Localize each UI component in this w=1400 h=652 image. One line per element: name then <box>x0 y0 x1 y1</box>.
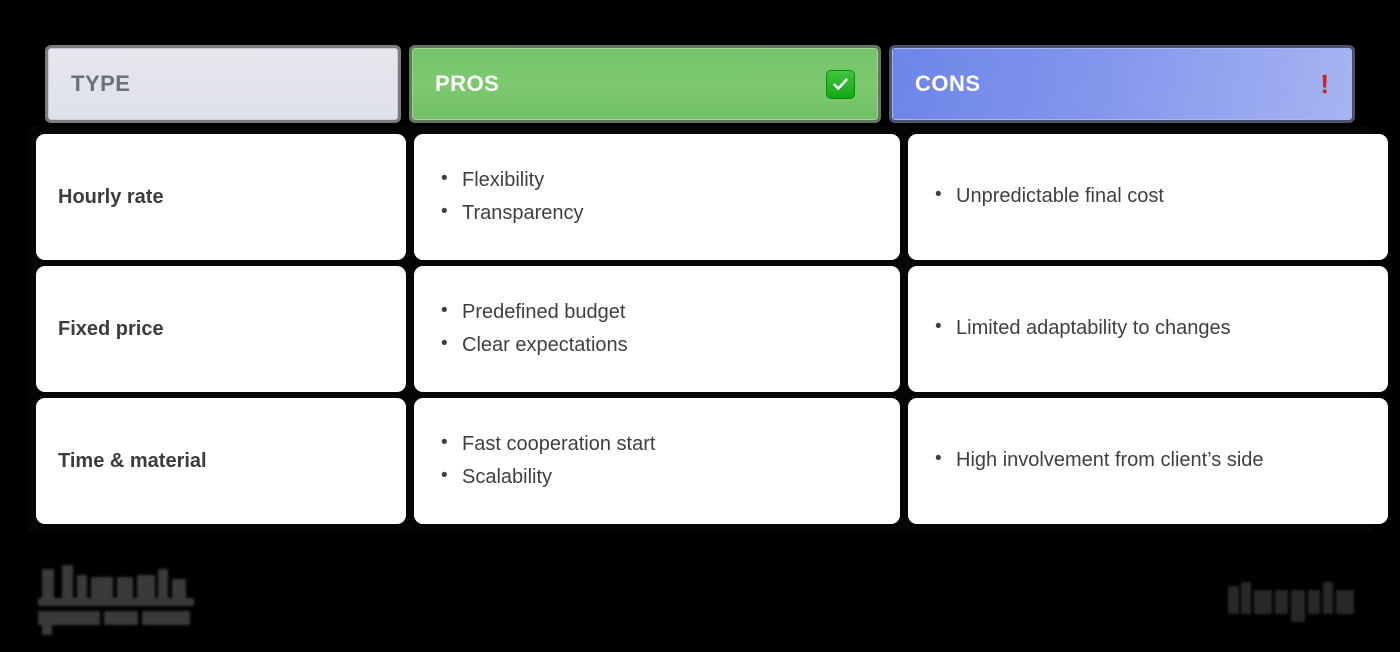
exclamation-mark-glyph: ! <box>1320 71 1329 97</box>
brand-logo-right <box>1228 578 1368 626</box>
table-row: Hourly rate <box>36 134 406 260</box>
table-header-row: TYPE PROS CONS ! <box>48 48 1352 120</box>
brand-logo-left <box>38 565 214 637</box>
list-item: Scalability <box>436 465 878 491</box>
pros-list: Predefined budget Clear expectations <box>436 293 878 365</box>
column-header-type-label: TYPE <box>71 71 375 97</box>
row-type-label: Fixed price <box>58 318 384 341</box>
list-item: Unpredictable final cost <box>930 184 1366 210</box>
column-header-type: TYPE <box>48 48 398 120</box>
pros-list: Flexibility Transparency <box>436 161 878 233</box>
check-mark-badge <box>826 70 855 99</box>
column-header-cons-label: CONS <box>915 71 1320 97</box>
table-row: Fixed price <box>36 266 406 392</box>
cons-list: High involvement from client’s side <box>930 441 1366 481</box>
list-item: Flexibility <box>436 168 878 194</box>
list-item: Predefined budget <box>436 300 878 326</box>
table-row: Predefined budget Clear expectations <box>414 266 900 392</box>
list-item: Transparency <box>436 201 878 227</box>
table-row: High involvement from client’s side <box>908 398 1388 524</box>
column-header-cons: CONS ! <box>892 48 1352 120</box>
table-body: Hourly rate Flexibility Transparency Unp… <box>28 126 1372 532</box>
row-type-label: Time & material <box>58 450 384 473</box>
table-row: Time & material <box>36 398 406 524</box>
pros-list: Fast cooperation start Scalability <box>436 425 878 497</box>
cons-list: Limited adaptability to changes <box>930 309 1366 349</box>
cons-list: Unpredictable final cost <box>930 177 1366 217</box>
list-item: High involvement from client’s side <box>930 448 1366 474</box>
list-item: Fast cooperation start <box>436 432 878 458</box>
row-type-label: Hourly rate <box>58 186 384 209</box>
exclamation-mark-icon: ! <box>1320 71 1329 97</box>
column-header-pros: PROS <box>412 48 878 120</box>
table-row: Limited adaptability to changes <box>908 266 1388 392</box>
column-header-pros-label: PROS <box>435 71 826 97</box>
comparison-table-slide: TYPE PROS CONS ! Hourly rate <box>0 0 1400 652</box>
table-row: Unpredictable final cost <box>908 134 1388 260</box>
table-row: Flexibility Transparency <box>414 134 900 260</box>
list-item: Clear expectations <box>436 333 878 359</box>
check-mark-icon <box>826 70 855 99</box>
table-row: Fast cooperation start Scalability <box>414 398 900 524</box>
list-item: Limited adaptability to changes <box>930 316 1366 342</box>
